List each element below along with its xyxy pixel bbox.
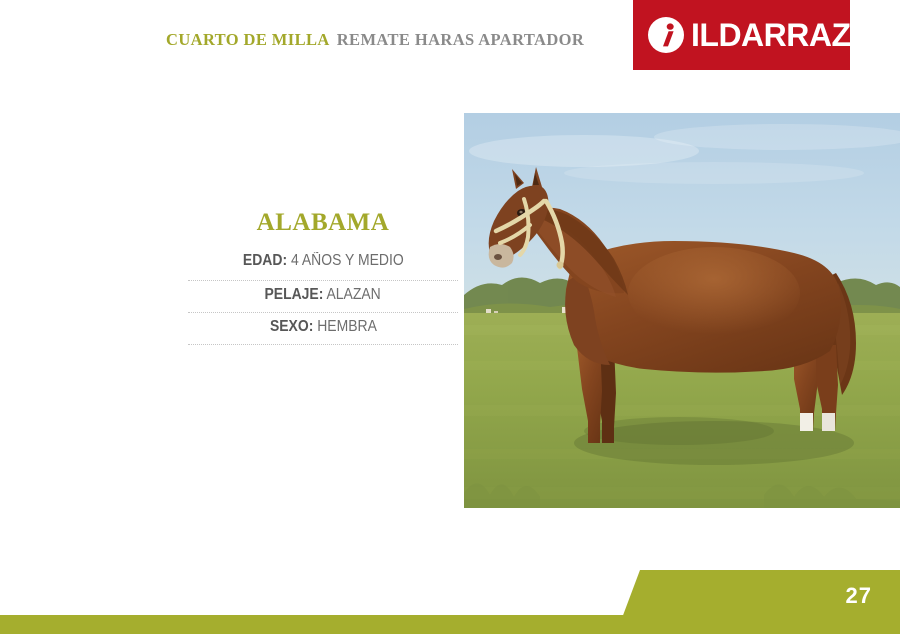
info-i-circle-icon (647, 16, 685, 54)
page-header: CUARTO DE MILLAREMATE HARAS APARTADOR (166, 30, 584, 50)
spec-row-pelaje: PELAJE: ALAZAN (188, 281, 458, 313)
brand-wordmark: ILDARRAZ (691, 19, 851, 51)
footer-accent-shape (0, 560, 900, 634)
spec-row-sexo: SEXO: HEMBRA (188, 313, 458, 345)
lot-info-panel: ALABAMA EDAD: 4 AÑOS Y MEDIO PELAJE: ALA… (188, 210, 458, 345)
lot-name: ALABAMA (188, 210, 458, 235)
spec-value-pelaje: ALAZAN (327, 286, 381, 303)
spec-value-sexo: HEMBRA (317, 318, 377, 335)
spec-label-edad: EDAD: (243, 252, 287, 269)
horse-photo (464, 113, 900, 508)
spec-label-pelaje: PELAJE: (265, 286, 324, 303)
brand-logo[interactable]: ILDARRAZ (633, 0, 850, 70)
header-event-label: REMATE HARAS APARTADOR (337, 30, 584, 49)
spec-value-edad: 4 AÑOS Y MEDIO (291, 252, 404, 269)
spec-row-edad: EDAD: 4 AÑOS Y MEDIO (188, 252, 458, 281)
page-number: 27 (846, 585, 872, 607)
header-breed-label: CUARTO DE MILLA (166, 30, 330, 49)
catalog-page: CUARTO DE MILLAREMATE HARAS APARTADOR IL… (0, 0, 900, 634)
spec-label-sexo: SEXO: (270, 318, 313, 335)
